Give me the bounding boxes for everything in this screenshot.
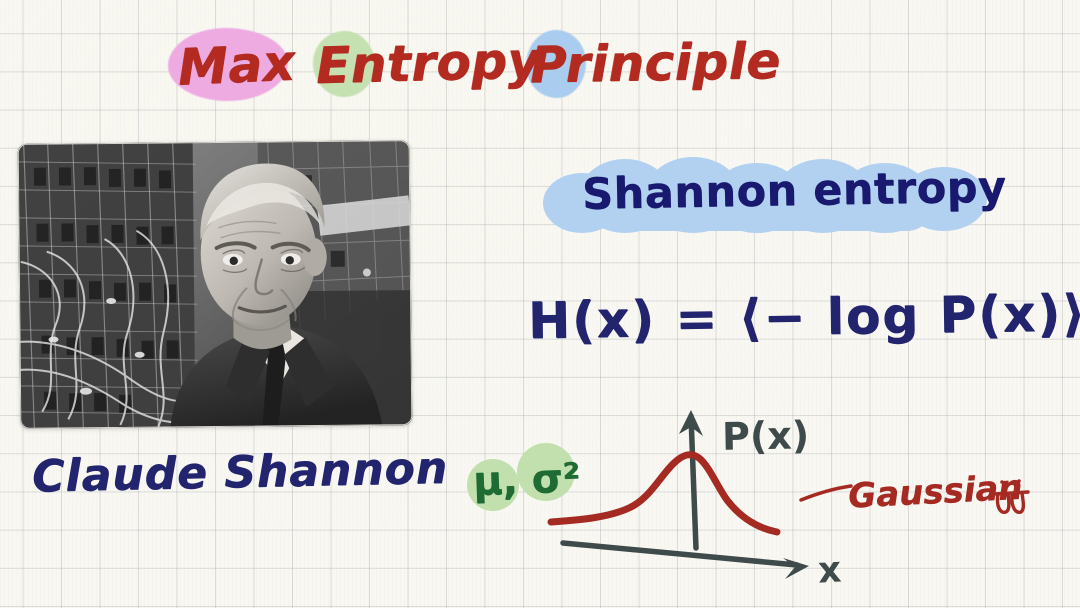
x-axis <box>563 543 797 565</box>
shannon-entropy-heading: Shannon entropy <box>582 162 1007 219</box>
note-canvas: Max Entropy Principle <box>0 0 1080 608</box>
title-word-max: Max <box>177 33 297 96</box>
title-word-principle: Principle <box>530 32 782 94</box>
photo-caption-claude-shannon: Claude Shannon <box>32 443 449 503</box>
y-axis <box>691 416 696 548</box>
claude-shannon-photo <box>18 140 413 429</box>
x-axis-arrowhead <box>783 558 809 579</box>
gaussian-curve <box>551 455 777 532</box>
smiley-face-icon <box>988 476 1036 522</box>
entropy-formula: H(x) = ⟨− log P(x)⟩ <box>528 284 1080 350</box>
x-axis-label: x <box>817 549 842 591</box>
title-word-entropy: Entropy <box>315 31 541 95</box>
gaussian-leader-line <box>801 486 851 500</box>
y-axis-label: P(x) <box>722 413 810 459</box>
